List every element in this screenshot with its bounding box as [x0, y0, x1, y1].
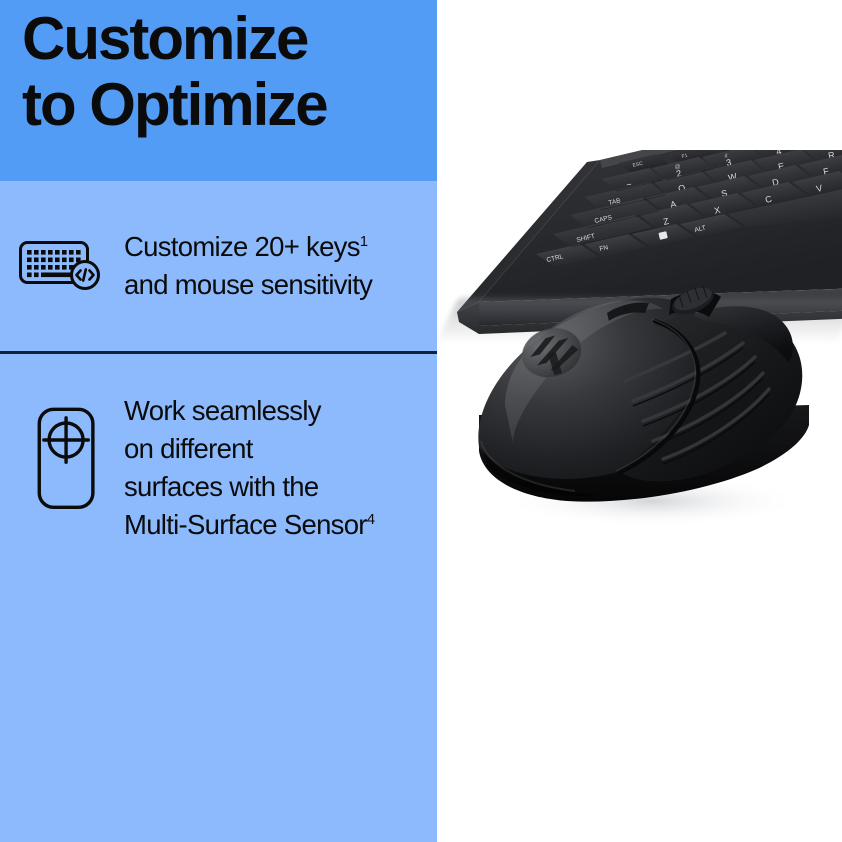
wireless-mouse-photo [457, 255, 842, 595]
feature-line-text: surfaces with the [124, 471, 318, 502]
feature-line: Work seamlessly [124, 392, 375, 430]
feature-line: surfaces with the [124, 468, 375, 506]
footnote-marker: 1 [360, 233, 368, 250]
multi-surface-sensor-icon [18, 406, 104, 511]
page-title: Customize to Optimize [22, 6, 432, 138]
feature-line: Multi-Surface Sensor4 [124, 506, 375, 544]
feature-line-text: and mouse sensitivity [124, 269, 372, 300]
product-photo-area: ESC F1 F2 F3 ~ 2 3 [437, 0, 842, 842]
left-info-panel: Customize to Optimize [0, 0, 437, 842]
feature-line: and mouse sensitivity [124, 266, 372, 304]
feature-line-text: Customize 20+ keys [124, 231, 360, 262]
page-title-line-2: to Optimize [22, 72, 432, 138]
product-feature-panel: Customize to Optimize [0, 0, 842, 842]
feature-line-text: on different [124, 433, 253, 464]
page-title-line-1: Customize [22, 5, 307, 72]
panel-header: Customize to Optimize [0, 0, 437, 181]
feature-line: Customize 20+ keys1 [124, 228, 372, 266]
feature-text-multi-surface: Work seamlessly on different surfaces wi… [124, 392, 375, 544]
feature-line-text: Work seamlessly [124, 395, 321, 426]
feature-item-multi-surface: Work seamlessly on different surfaces wi… [18, 392, 433, 544]
feature-line: on different [124, 430, 375, 468]
feature-divider [0, 351, 437, 354]
feature-line-text: Multi-Surface Sensor [124, 509, 367, 540]
keyboard-code-icon [18, 238, 104, 290]
feature-text-customize-keys: Customize 20+ keys1 and mouse sensitivit… [124, 228, 372, 304]
feature-item-customize-keys: Customize 20+ keys1 and mouse sensitivit… [18, 228, 433, 304]
footnote-marker: 4 [367, 511, 375, 528]
